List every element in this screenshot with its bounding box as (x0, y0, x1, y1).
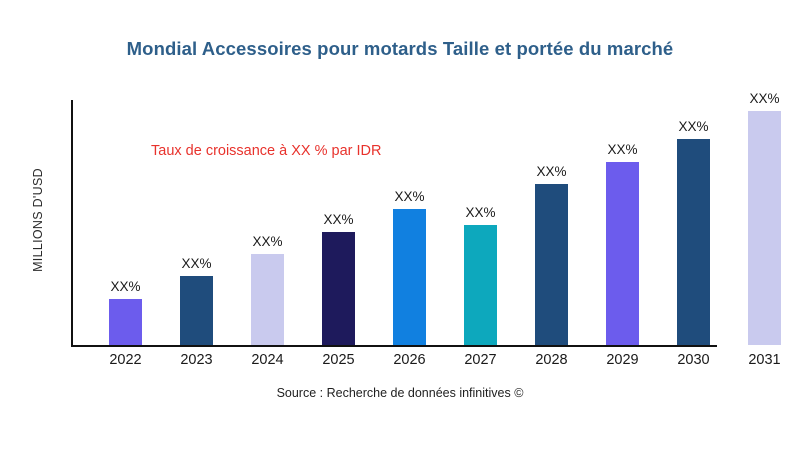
bar-value-label: XX% (749, 91, 779, 106)
bar-2028: XX% (535, 184, 568, 346)
bar-2026: XX% (393, 209, 426, 346)
plot-area: Taux de croissance à XX % par IDR XX%XX%… (71, 100, 789, 347)
source-caption: Source : Recherche de données infinitive… (0, 386, 800, 400)
bar-value-label: XX% (678, 119, 708, 134)
bar-value-label: XX% (465, 205, 495, 220)
x-tick-2022: 2022 (91, 352, 161, 368)
bar-2029: XX% (606, 162, 639, 345)
bar-2024: XX% (251, 254, 284, 346)
x-tick-2029: 2029 (588, 352, 658, 368)
chart-title: Mondial Accessoires pour motards Taille … (0, 38, 800, 60)
bar-2027: XX% (464, 225, 497, 345)
x-tick-2023: 2023 (162, 352, 232, 368)
x-axis-line (71, 345, 717, 347)
bar-2030: XX% (677, 139, 710, 346)
bar-value-label: XX% (110, 279, 140, 294)
bar-value-label: XX% (394, 189, 424, 204)
bar-2023: XX% (180, 276, 213, 345)
bar-2031: XX% (748, 111, 781, 346)
x-tick-2025: 2025 (304, 352, 374, 368)
bar-value-label: XX% (181, 256, 211, 271)
bar-2022: XX% (109, 299, 142, 345)
y-axis-label-container: MILLIONS D'USD (26, 100, 50, 340)
x-tick-2026: 2026 (375, 352, 445, 368)
growth-rate-annotation: Taux de croissance à XX % par IDR (151, 143, 382, 159)
y-axis-label: MILLIONS D'USD (31, 168, 45, 272)
x-tick-2024: 2024 (233, 352, 303, 368)
x-tick-2027: 2027 (446, 352, 516, 368)
bar-value-label: XX% (323, 212, 353, 227)
chart-container: Mondial Accessoires pour motards Taille … (0, 0, 800, 450)
bar-2025: XX% (322, 232, 355, 345)
bar-value-label: XX% (607, 142, 637, 157)
y-axis-line (71, 100, 73, 347)
bar-value-label: XX% (252, 234, 282, 249)
x-tick-2028: 2028 (517, 352, 587, 368)
x-tick-2030: 2030 (659, 352, 729, 368)
bar-value-label: XX% (536, 164, 566, 179)
x-tick-2031: 2031 (730, 352, 800, 368)
